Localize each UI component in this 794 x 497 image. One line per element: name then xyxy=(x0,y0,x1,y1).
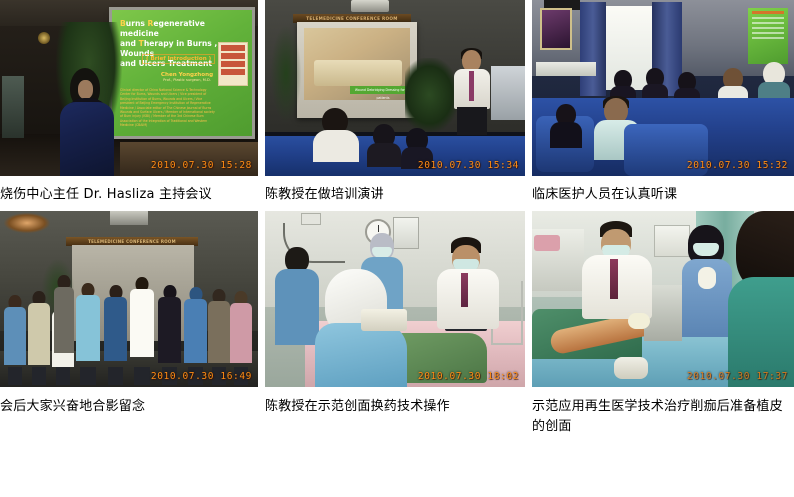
photo-cell-6: 2010.07.30 17:37 示范应用再生医学技术治疗削痂后准备植皮的创面 xyxy=(532,211,794,443)
equipment-cabinet xyxy=(491,66,525,120)
photo-6-caption: 示范应用再生医学技术治疗削痂后准备植皮的创面 xyxy=(532,387,794,443)
group-person-5 xyxy=(76,283,100,369)
group-person-4 xyxy=(54,275,74,363)
group-person-8 xyxy=(158,285,181,369)
audience-member-1 xyxy=(550,104,582,146)
slide-thumbnail-panel xyxy=(218,42,248,86)
supply-basket xyxy=(534,235,560,251)
photo-3-caption: 临床医护人员在认真听课 xyxy=(532,176,794,211)
group-person-11 xyxy=(230,291,252,369)
projection-screen: Burns Regenerative medicineand Therapy i… xyxy=(112,10,252,136)
photo-6-timestamp: 2010.07.30 17:37 xyxy=(687,371,788,382)
photo-2-image[interactable]: TELEMEDICINE CONFERENCE ROOM Wound Debri… xyxy=(265,0,525,176)
photo-5-timestamp: 2010.07.30 18:02 xyxy=(418,371,519,382)
photo-report-page: Burns Regenerative medicineand Therapy i… xyxy=(0,0,794,497)
speaker-trousers xyxy=(457,107,487,135)
group-person-9 xyxy=(184,287,207,369)
presenter-body xyxy=(60,102,114,176)
photo-cell-1: Burns Regenerative medicineand Therapy i… xyxy=(0,0,258,211)
potted-plant-left xyxy=(271,26,301,122)
doorway xyxy=(2,76,24,138)
speaker-figure xyxy=(451,50,493,134)
foreground-nurse xyxy=(728,211,794,387)
speaker-necktie xyxy=(469,71,474,101)
photo-4-caption: 会后大家兴奋地合影留念 xyxy=(0,387,258,423)
audience-member-4 xyxy=(642,68,668,102)
slide-author-role: Prof., Plastic surgeon, M.D. xyxy=(148,78,226,82)
photo-1-timestamp: 2010.07.30 15:28 xyxy=(151,160,252,171)
professor-figure xyxy=(437,237,499,345)
photo-5-image[interactable]: 2010.07.30 18:02 xyxy=(265,211,525,387)
medical-wall-panel xyxy=(536,62,596,76)
ceiling-projector-icon xyxy=(110,211,148,225)
audience-member-2 xyxy=(367,124,401,164)
framed-picture xyxy=(540,8,572,50)
slide-subtitle: ( Brief Introduction ) xyxy=(142,54,215,64)
group-person-2 xyxy=(28,291,50,369)
curtain-left xyxy=(580,2,606,96)
grid-gap-1 xyxy=(258,0,265,211)
group-person-1 xyxy=(4,295,26,369)
photo-2-caption: 陈教授在做培训演讲 xyxy=(265,176,525,211)
photo-3-timestamp: 2010.07.30 15:32 xyxy=(687,160,788,171)
group-person-7 xyxy=(130,277,154,369)
photo-6-image[interactable]: 2010.07.30 17:37 xyxy=(532,211,794,387)
photo-cell-4: TELEMEDICINE CONFERENCE ROOM xyxy=(0,211,258,443)
dressing-tray xyxy=(361,309,407,331)
photo-cell-3: 2010.07.30 15:32 临床医护人员在认真听课 xyxy=(532,0,794,211)
photo-3-image[interactable]: 2010.07.30 15:32 xyxy=(532,0,794,176)
photo-4-image[interactable]: TELEMEDICINE CONFERENCE ROOM xyxy=(0,211,258,387)
photo-5-caption: 陈教授在示范创面换药技术操作 xyxy=(265,387,525,423)
gloved-hand-professor xyxy=(628,313,650,329)
grid-gap-4 xyxy=(525,211,532,443)
ceiling-lamp-icon xyxy=(38,32,50,44)
ceiling-projector-icon xyxy=(351,0,389,12)
green-presentation-screen xyxy=(748,8,788,64)
grid-gap-2 xyxy=(525,0,532,211)
grid-gap-3 xyxy=(258,211,265,443)
photo-4-timestamp: 2010.07.30 16:49 xyxy=(151,371,252,382)
slide-author: Chen YongzhongProf., Plastic surgeon, M.… xyxy=(148,72,226,82)
audience-member-1 xyxy=(313,108,359,160)
group-person-6 xyxy=(104,285,127,369)
bandaged-foot xyxy=(614,357,648,379)
assistant-nurse-left xyxy=(275,247,319,343)
photo-1-caption: 烧伤中心主任 Dr. Hasliza 主持会议 xyxy=(0,176,258,211)
slide-patient-bed xyxy=(314,60,402,86)
slide-clinical-photo: Wound Debridging Dressing for the patien… xyxy=(304,28,410,100)
projection-screen: Wound Debridging Dressing for the patien… xyxy=(297,22,417,118)
photo-cell-2: TELEMEDICINE CONFERENCE ROOM Wound Debri… xyxy=(265,0,525,211)
photo-grid: Burns Regenerative medicineand Therapy i… xyxy=(0,0,794,443)
photo-cell-5: 2010.07.30 18:02 陈教授在示范创面换药技术操作 xyxy=(265,211,525,443)
ceiling-lamp-icon xyxy=(4,213,50,233)
presenter-figure xyxy=(58,68,116,176)
group-photo-row xyxy=(0,257,258,369)
group-person-10 xyxy=(208,289,230,369)
gloved-hand-nurse xyxy=(698,267,716,289)
presenter-face xyxy=(78,80,93,99)
photo-1-image[interactable]: Burns Regenerative medicineand Therapy i… xyxy=(0,0,258,176)
photo-2-timestamp: 2010.07.30 15:34 xyxy=(418,160,519,171)
slide-bullets: Clinical director of China National Scie… xyxy=(120,88,216,128)
